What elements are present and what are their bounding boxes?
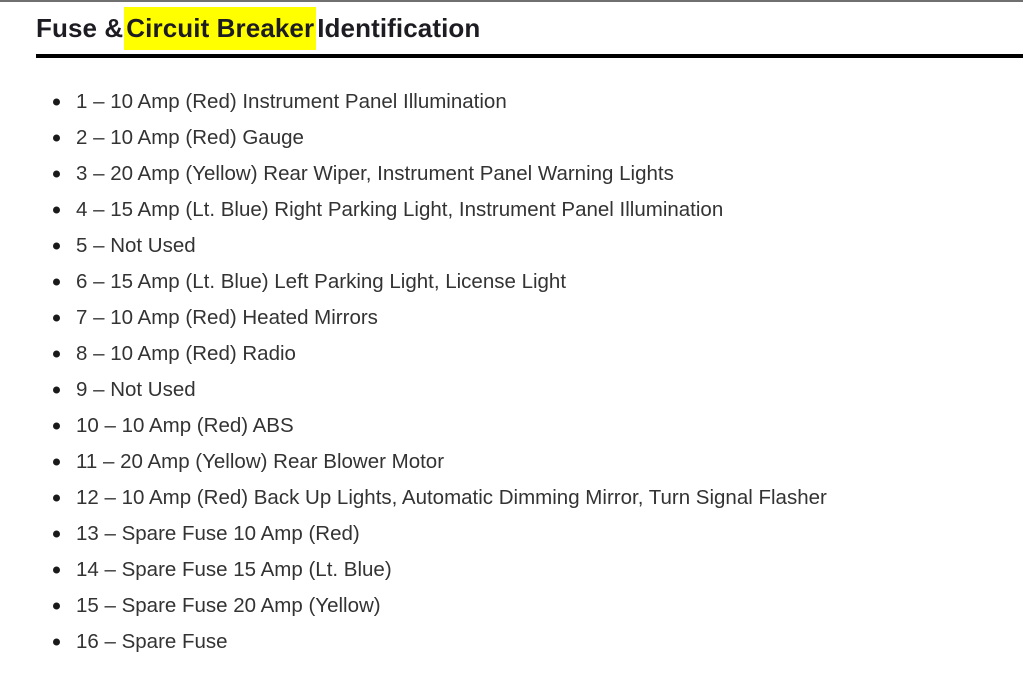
bullet-icon xyxy=(53,495,60,502)
list-item: 3 – 20 Amp (Yellow) Rear Wiper, Instrume… xyxy=(0,156,1023,192)
list-item-label: 10 – 10 Amp (Red) ABS xyxy=(76,408,294,444)
list-item-label: 16 – Spare Fuse xyxy=(76,624,228,660)
bullet-icon xyxy=(53,351,60,358)
bullet-icon xyxy=(53,171,60,178)
document-page: Fuse & Circuit Breaker Identification 1 … xyxy=(0,2,1023,634)
list-item-label: 15 – Spare Fuse 20 Amp (Yellow) xyxy=(76,588,381,624)
bullet-icon xyxy=(53,567,60,574)
bullet-icon xyxy=(53,207,60,214)
list-item: 2 – 10 Amp (Red) Gauge xyxy=(0,120,1023,156)
bullet-icon xyxy=(53,387,60,394)
list-item: 16 – Spare Fuse xyxy=(0,624,1023,660)
title-divider xyxy=(36,54,1023,58)
list-item-label: 8 – 10 Amp (Red) Radio xyxy=(76,336,296,372)
page-title: Fuse & Circuit Breaker Identification xyxy=(0,2,1023,54)
list-item-label: 4 – 15 Amp (Lt. Blue) Right Parking Ligh… xyxy=(76,192,723,228)
page-title-highlight: Circuit Breaker xyxy=(124,7,316,50)
page-title-segment-1: Fuse & xyxy=(36,10,123,46)
list-item-label: 14 – Spare Fuse 15 Amp (Lt. Blue) xyxy=(76,552,392,588)
list-item-label: 3 – 20 Amp (Yellow) Rear Wiper, Instrume… xyxy=(76,156,674,192)
list-item-label: 12 – 10 Amp (Red) Back Up Lights, Automa… xyxy=(76,480,827,516)
bullet-icon xyxy=(53,459,60,466)
list-item-label: 1 – 10 Amp (Red) Instrument Panel Illumi… xyxy=(76,84,507,120)
bullet-icon xyxy=(53,135,60,142)
list-item: 4 – 15 Amp (Lt. Blue) Right Parking Ligh… xyxy=(0,192,1023,228)
bullet-icon xyxy=(53,279,60,286)
list-item-label: 13 – Spare Fuse 10 Amp (Red) xyxy=(76,516,360,552)
heading-block: Fuse & Circuit Breaker Identification xyxy=(0,2,1023,58)
list-item: 13 – Spare Fuse 10 Amp (Red) xyxy=(0,516,1023,552)
bullet-icon xyxy=(53,99,60,106)
list-item-label: 2 – 10 Amp (Red) Gauge xyxy=(76,120,304,156)
list-item: 8 – 10 Amp (Red) Radio xyxy=(0,336,1023,372)
list-item-label: 7 – 10 Amp (Red) Heated Mirrors xyxy=(76,300,378,336)
list-item-label: 5 – Not Used xyxy=(76,228,196,264)
bullet-icon xyxy=(53,423,60,430)
list-item: 9 – Not Used xyxy=(0,372,1023,408)
list-item-label: 11 – 20 Amp (Yellow) Rear Blower Motor xyxy=(76,444,444,480)
bullet-icon xyxy=(53,639,60,646)
fuse-identification-list: 1 – 10 Amp (Red) Instrument Panel Illumi… xyxy=(0,84,1023,660)
list-item-label: 6 – 15 Amp (Lt. Blue) Left Parking Light… xyxy=(76,264,566,300)
bullet-icon xyxy=(53,603,60,610)
list-item-label: 9 – Not Used xyxy=(76,372,196,408)
list-item: 11 – 20 Amp (Yellow) Rear Blower Motor xyxy=(0,444,1023,480)
list-item: 15 – Spare Fuse 20 Amp (Yellow) xyxy=(0,588,1023,624)
page-title-segment-3: Identification xyxy=(317,10,480,46)
bullet-icon xyxy=(53,315,60,322)
list-item: 5 – Not Used xyxy=(0,228,1023,264)
list-item: 6 – 15 Amp (Lt. Blue) Left Parking Light… xyxy=(0,264,1023,300)
bullet-icon xyxy=(53,531,60,538)
list-item: 1 – 10 Amp (Red) Instrument Panel Illumi… xyxy=(0,84,1023,120)
list-item: 10 – 10 Amp (Red) ABS xyxy=(0,408,1023,444)
list-item: 7 – 10 Amp (Red) Heated Mirrors xyxy=(0,300,1023,336)
bullet-icon xyxy=(53,243,60,250)
list-item: 14 – Spare Fuse 15 Amp (Lt. Blue) xyxy=(0,552,1023,588)
list-item: 12 – 10 Amp (Red) Back Up Lights, Automa… xyxy=(0,480,1023,516)
